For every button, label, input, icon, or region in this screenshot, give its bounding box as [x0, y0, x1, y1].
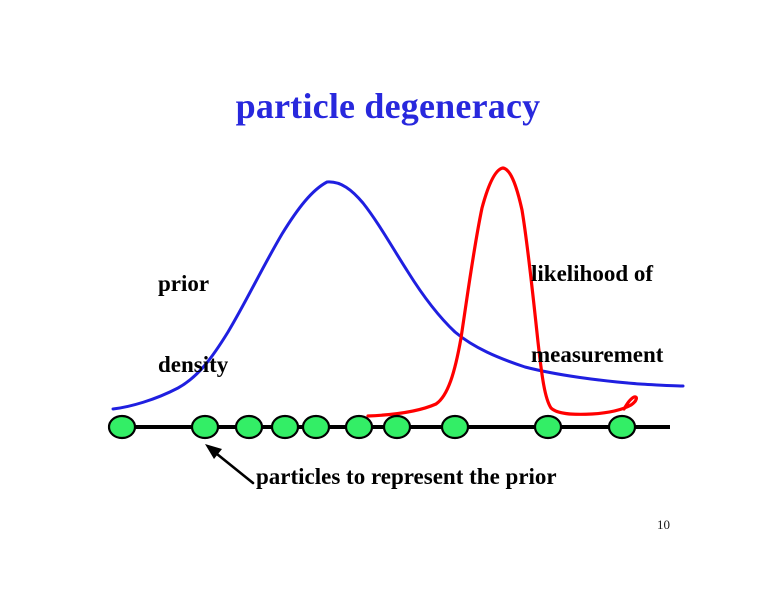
caption-arrow: [205, 444, 253, 483]
prior-density-label: prior density: [158, 216, 228, 432]
particles-caption: particles to represent the prior: [256, 463, 557, 490]
particle[interactable]: [303, 416, 329, 438]
likelihood-label-line2: measurement: [531, 341, 663, 368]
particle[interactable]: [442, 416, 468, 438]
particle[interactable]: [272, 416, 298, 438]
particle[interactable]: [384, 416, 410, 438]
slide-canvas: particle degeneracy prior densit: [0, 0, 776, 600]
likelihood-label: likelihood of measurement: [531, 206, 663, 422]
particle[interactable]: [236, 416, 262, 438]
page-number: 10: [657, 517, 670, 533]
particle[interactable]: [109, 416, 135, 438]
particle[interactable]: [346, 416, 372, 438]
prior-density-label-line1: prior: [158, 270, 228, 297]
likelihood-label-line1: likelihood of: [531, 260, 663, 287]
prior-density-label-line2: density: [158, 351, 228, 378]
